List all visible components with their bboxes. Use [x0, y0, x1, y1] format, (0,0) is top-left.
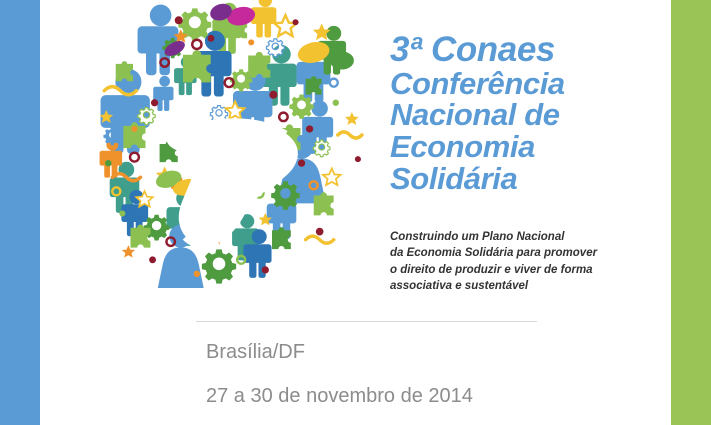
- event-dates: 27 a 30 de novembro de 2014: [196, 362, 537, 425]
- event-details: Brasília/DF 27 a 30 de novembro de 2014: [196, 321, 537, 425]
- title-line-2: Conferência: [390, 68, 665, 100]
- right-accent-bar: [671, 0, 711, 425]
- event-subtitle: Construindo um Plano Nacional da Economi…: [390, 229, 620, 294]
- title-line-5: Solidária: [390, 163, 665, 195]
- event-title: 3ª Conaes Conferência Nacional de Econom…: [390, 32, 665, 194]
- title-line-4: Economia: [390, 131, 665, 163]
- subtitle-line-1: Construindo um Plano Nacional: [390, 229, 620, 245]
- globe-logo-graphic: [68, 0, 370, 288]
- left-accent-bar: [0, 0, 40, 425]
- subtitle-line-2: da Economia Solidária para promover: [390, 245, 620, 261]
- title-line-1: 3ª Conaes: [390, 32, 665, 68]
- title-line-3: Nacional de: [390, 99, 665, 131]
- presentation-slide: 3ª Conaes Conferência Nacional de Econom…: [0, 0, 711, 425]
- conaes-globe-logo: [68, 0, 370, 288]
- event-location: Brasília/DF: [196, 322, 537, 362]
- subtitle-line-3: o direito de produzir e viver de forma: [390, 262, 620, 278]
- subtitle-line-4: associativa e sustentável: [390, 278, 620, 294]
